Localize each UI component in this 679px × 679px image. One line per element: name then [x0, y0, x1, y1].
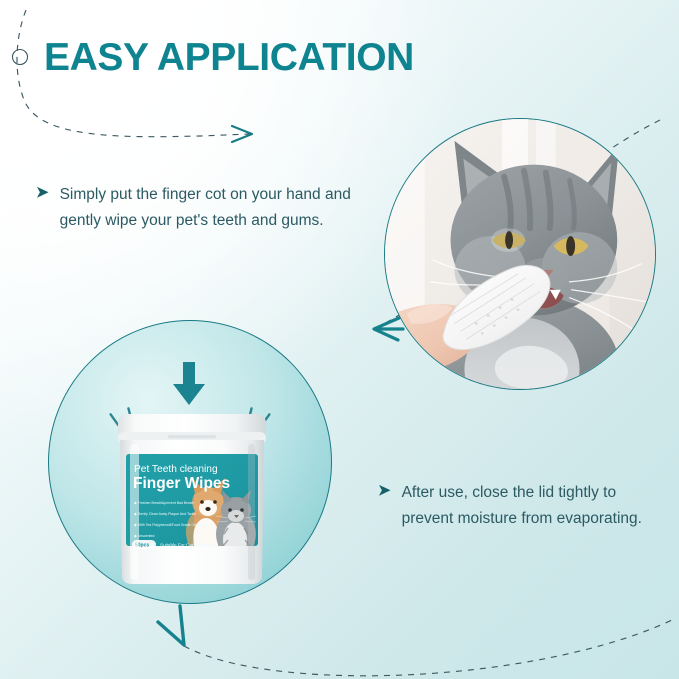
- cat-photo-illustration: [385, 119, 655, 389]
- instruction-item-2: ➤ After use, close the lid tightly to pr…: [378, 480, 648, 532]
- infographic-canvas: EASY APPLICATION ➤ Simply put the finger…: [0, 0, 679, 679]
- arrowhead-right-top: [232, 126, 252, 142]
- page-title: EASY APPLICATION: [44, 36, 414, 80]
- bullet-arrow-icon: ➤: [378, 480, 391, 502]
- start-marker-circle: [13, 50, 28, 65]
- label-line1: Pet Teeth cleaning: [134, 464, 218, 475]
- label-feature-3: ◆ With Tea Polyphenol&Food Grade Citric …: [134, 523, 207, 527]
- cat-photo-circle: [384, 118, 656, 390]
- instruction-text-1: Simply put the finger cot on your hand a…: [60, 182, 356, 234]
- arrowhead-out-of-product: [158, 600, 196, 645]
- instruction-text-2: After use, close the lid tightly to prev…: [402, 480, 648, 532]
- bullet-arrow-icon: ➤: [36, 182, 49, 204]
- instruction-item-1: ➤ Simply put the finger cot on your hand…: [36, 182, 356, 234]
- down-arrow-icon: [171, 362, 207, 406]
- product-jar: Pet Teeth cleaning Finger Wipes ◆ Freshe…: [112, 410, 272, 585]
- dashed-path-bottom: [184, 620, 672, 676]
- label-line2: Finger Wipes: [133, 475, 230, 492]
- label-feature-2: ◆ Gently Clean Away Plaque And Tartar: [134, 512, 197, 516]
- label-footer: Suitable For Cats And Dogs: [160, 543, 217, 548]
- label-feature-1: ◆ Freshen Breath&prevent Bad Breath: [134, 501, 194, 505]
